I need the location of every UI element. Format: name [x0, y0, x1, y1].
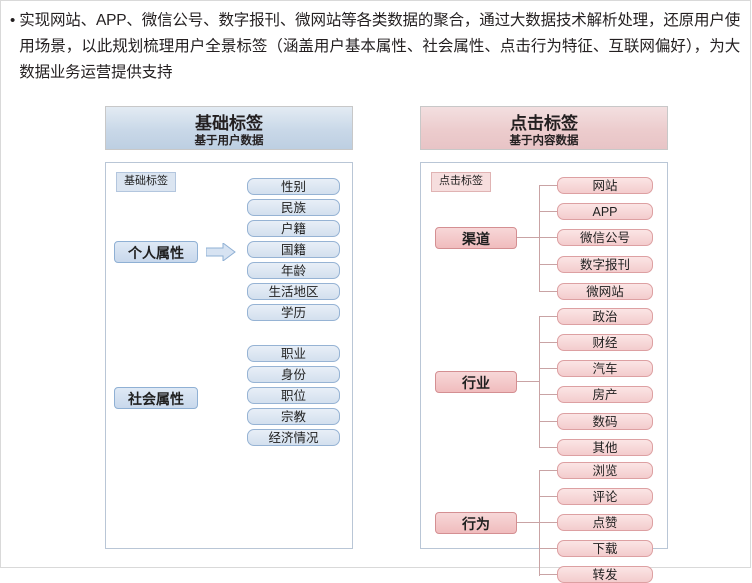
chip-industry-1[interactable]: 财经	[557, 334, 653, 351]
chip-industry-0[interactable]: 政治	[557, 308, 653, 325]
connector-channel-vertical	[539, 185, 540, 291]
chip-industry-5[interactable]: 其他	[557, 439, 653, 456]
connector-behavior-vertical	[539, 470, 540, 576]
connector-channel-stub-3	[539, 264, 557, 265]
connector-behavior-stub-3	[539, 548, 557, 549]
panel-basic-body: 基础标签 个人属性 性别 民族 户籍 国籍 年龄 生活地区 学历 社会属性 职业…	[105, 162, 353, 549]
chip-personal-3[interactable]: 国籍	[247, 241, 340, 258]
chip-personal-2[interactable]: 户籍	[247, 220, 340, 237]
chip-behavior-1[interactable]: 评论	[557, 488, 653, 505]
chip-behavior-2[interactable]: 点赞	[557, 514, 653, 531]
connector-industry-stub-5	[539, 447, 557, 448]
connector-behavior-horizontal	[517, 522, 539, 523]
group-behavior[interactable]: 行为	[435, 512, 517, 534]
connector-industry-vertical	[539, 316, 540, 447]
intro-bullet-block: • 实现网站、APP、微信公号、数字报刊、微网站等各类数据的聚合，通过大数据技术…	[10, 8, 740, 86]
connector-industry-stub-2	[539, 368, 557, 369]
chip-industry-3[interactable]: 房产	[557, 386, 653, 403]
panel-click-tags: 点击标签 基于内容数据 点击标签 渠道 网站 APP 微信公号	[420, 106, 668, 549]
panel-click-header: 点击标签 基于内容数据	[420, 106, 668, 150]
bullet-marker: •	[10, 8, 15, 34]
connector-channel-horizontal	[517, 237, 539, 238]
connector-channel-stub-2	[539, 237, 557, 238]
connector-channel-stub-4	[539, 291, 557, 292]
chip-channel-3[interactable]: 数字报刊	[557, 256, 653, 273]
panel-click-body: 点击标签 渠道 网站 APP 微信公号 数字报刊 微网站 行业	[420, 162, 668, 549]
connector-behavior-stub-2	[539, 522, 557, 523]
chip-social-4[interactable]: 经济情况	[247, 429, 340, 446]
connector-industry-stub-3	[539, 394, 557, 395]
group-personal-attributes[interactable]: 个人属性	[114, 241, 198, 263]
panel-basic-tags: 基础标签 基于用户数据 基础标签 个人属性 性别 民族 户籍 国籍 年龄 生活地…	[105, 106, 353, 549]
chip-personal-5[interactable]: 生活地区	[247, 283, 340, 300]
connector-industry-horizontal	[517, 381, 539, 382]
panel-basic-tag: 基础标签	[116, 172, 176, 192]
group-industry[interactable]: 行业	[435, 371, 517, 393]
group-social-attributes[interactable]: 社会属性	[114, 387, 198, 409]
connector-industry-stub-4	[539, 421, 557, 422]
connector-channel-stub-0	[539, 185, 557, 186]
connector-industry-stub-0	[539, 316, 557, 317]
chip-personal-6[interactable]: 学历	[247, 304, 340, 321]
panel-basic-title: 基础标签	[106, 113, 352, 134]
arrow-right-icon-personal	[206, 243, 236, 261]
chip-personal-1[interactable]: 民族	[247, 199, 340, 216]
panel-click-subtitle: 基于内容数据	[421, 134, 667, 149]
connector-industry-stub-1	[539, 342, 557, 343]
chip-industry-4[interactable]: 数码	[557, 413, 653, 430]
connector-behavior-stub-1	[539, 496, 557, 497]
connector-channel-stub-1	[539, 211, 557, 212]
chip-social-3[interactable]: 宗教	[247, 408, 340, 425]
connector-behavior-stub-0	[539, 470, 557, 471]
chip-behavior-0[interactable]: 浏览	[557, 462, 653, 479]
chip-industry-2[interactable]: 汽车	[557, 360, 653, 377]
chip-channel-0[interactable]: 网站	[557, 177, 653, 194]
panel-basic-header: 基础标签 基于用户数据	[105, 106, 353, 150]
chip-channel-4[interactable]: 微网站	[557, 283, 653, 300]
chip-social-2[interactable]: 职位	[247, 387, 340, 404]
chip-behavior-3[interactable]: 下载	[557, 540, 653, 557]
panel-click-title: 点击标签	[421, 113, 667, 134]
group-channel[interactable]: 渠道	[435, 227, 517, 249]
chip-channel-1[interactable]: APP	[557, 203, 653, 220]
chip-channel-2[interactable]: 微信公号	[557, 229, 653, 246]
panel-click-tag: 点击标签	[431, 172, 491, 192]
chip-personal-0[interactable]: 性别	[247, 178, 340, 195]
intro-text: 实现网站、APP、微信公号、数字报刊、微网站等各类数据的聚合，通过大数据技术解析…	[19, 8, 740, 86]
chip-social-1[interactable]: 身份	[247, 366, 340, 383]
connector-behavior-stub-4	[539, 574, 557, 575]
chip-social-0[interactable]: 职业	[247, 345, 340, 362]
panel-basic-subtitle: 基于用户数据	[106, 134, 352, 149]
chip-personal-4[interactable]: 年龄	[247, 262, 340, 279]
